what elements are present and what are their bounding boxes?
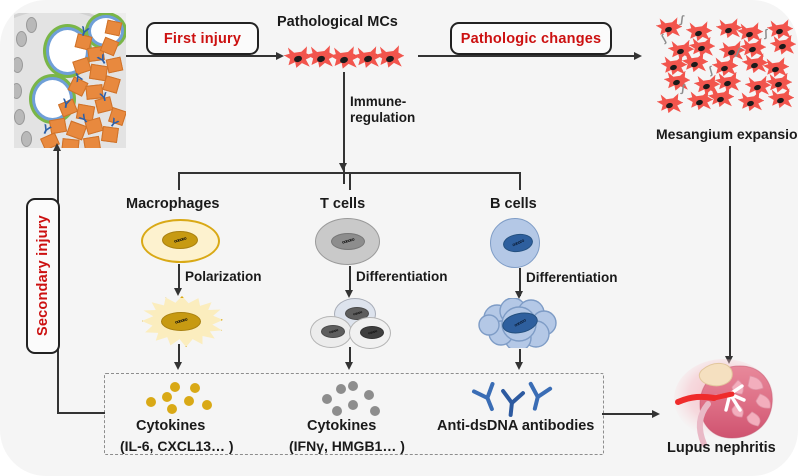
mc-cell-icon bbox=[738, 91, 764, 115]
differentiated-tcell-nucleus-icon: ∞∞∞ bbox=[360, 326, 384, 339]
mesangium-to-kidney-line bbox=[729, 146, 731, 358]
immune-regulation-label: Immune- regulation bbox=[350, 94, 415, 126]
dna-glyph: ∞∞∞ bbox=[352, 309, 362, 317]
antibodies-title: Anti-dsDNA antibodies bbox=[437, 418, 594, 434]
podocyte-icon bbox=[16, 31, 27, 47]
pathologic-changes-text: Pathologic changes bbox=[461, 31, 602, 47]
cytokine-dot bbox=[190, 383, 200, 393]
dna-glyph: ∞∞∞ bbox=[174, 316, 187, 326]
immune-regulation-arrowhead bbox=[339, 163, 347, 171]
products-to-kidney-arrowhead bbox=[652, 410, 660, 418]
macrophage-cytokine-dots bbox=[140, 382, 216, 412]
products-to-kidney-line bbox=[602, 413, 654, 415]
mc-cell-icon bbox=[376, 45, 404, 72]
dna-glyph: ∞∞∞ bbox=[173, 235, 186, 245]
dna-glyph: ∞∞∞ bbox=[341, 236, 354, 246]
pathological-mcs-label: Pathological MCs bbox=[277, 14, 398, 30]
bus-drop-bcells bbox=[519, 172, 521, 190]
bcell-differentiation-label: Differentiation bbox=[526, 270, 618, 285]
immune-regulation-line2: regulation bbox=[350, 110, 415, 126]
tcell-cytokines-title: Cytokines bbox=[307, 418, 376, 434]
tcell-differentiation-arrowhead bbox=[345, 290, 353, 298]
cytokine-dot bbox=[146, 397, 156, 407]
macrophage-to-cytokines-arrowhead bbox=[174, 362, 182, 370]
lupus-nephritis-label: Lupus nephritis bbox=[667, 440, 776, 456]
tcell-to-cytokines-arrowhead bbox=[345, 362, 353, 370]
secondary-injury-label: Secondary injury bbox=[26, 198, 60, 354]
tcell-cytokine-dots bbox=[318, 382, 394, 412]
cytokine-dot bbox=[322, 394, 332, 404]
pathologic-changes-arrow-line bbox=[418, 55, 636, 57]
immune-deposit-icon: Y bbox=[61, 96, 72, 110]
cell-process-icon: ʃ bbox=[764, 27, 768, 39]
first-injury-label: First injury bbox=[146, 22, 259, 55]
first-injury-arrow-line bbox=[126, 55, 278, 57]
bcells-label: B cells bbox=[490, 196, 537, 212]
cytokine-dot bbox=[167, 404, 177, 414]
tcells-label: T cells bbox=[320, 196, 365, 212]
pathologic-changes-arrowhead bbox=[634, 52, 642, 60]
mc-cell-icon bbox=[768, 88, 794, 112]
mesangial-cell-icon bbox=[105, 20, 123, 37]
podocyte-icon bbox=[21, 131, 32, 147]
antibody-icon bbox=[522, 381, 554, 411]
bcell-to-antibodies-arrowhead bbox=[515, 362, 523, 370]
dna-glyph: ∞∞∞ bbox=[367, 328, 377, 336]
feedback-arrowhead bbox=[53, 143, 61, 151]
macrophage-nucleus-icon: ∞∞∞ bbox=[162, 231, 198, 249]
immune-regulation-line1: Immune- bbox=[350, 94, 415, 110]
pathologic-changes-label: Pathologic changes bbox=[450, 22, 612, 55]
dna-glyph: ∞∞∞ bbox=[328, 327, 338, 335]
macrophages-label: Macrophages bbox=[126, 196, 219, 212]
cytokine-dot bbox=[364, 390, 374, 400]
cytokine-dot bbox=[332, 406, 342, 416]
first-injury-arrowhead bbox=[276, 52, 284, 60]
polarization-arrowhead bbox=[174, 288, 182, 296]
mc-cell-icon bbox=[657, 93, 683, 117]
mesangium-expansion-cluster: ʃʃʃʃʃʃ bbox=[660, 20, 792, 120]
cytokine-dot bbox=[348, 400, 358, 410]
cytokine-dot bbox=[184, 396, 194, 406]
pathological-mcs-cell-row bbox=[284, 44, 404, 74]
dna-glyph: ∞∞∞ bbox=[511, 237, 525, 248]
tcell-differentiation-label: Differentiation bbox=[356, 269, 448, 284]
secondary-injury-text: Secondary injury bbox=[35, 216, 51, 337]
mesangial-cell-icon bbox=[83, 136, 101, 148]
bus-drop-tcells bbox=[349, 172, 351, 190]
podocyte-icon bbox=[26, 17, 37, 33]
podocyte-icon bbox=[14, 109, 25, 125]
polarization-label: Polarization bbox=[185, 269, 262, 284]
tcell-nucleus-icon: ∞∞∞ bbox=[331, 233, 365, 250]
cell-process-icon: ʃ bbox=[679, 14, 684, 26]
macrophage-cytokines-title: Cytokines bbox=[136, 418, 205, 434]
differentiated-tcell-nucleus-icon: ∞∞∞ bbox=[321, 325, 345, 338]
activated-macrophage-nucleus-icon: ∞∞∞ bbox=[161, 312, 201, 331]
cytokine-dot bbox=[370, 406, 380, 416]
cytokine-dot bbox=[348, 381, 358, 391]
cytokine-dot bbox=[170, 382, 180, 392]
cytokine-dot bbox=[336, 384, 346, 394]
mc-cell-icon bbox=[770, 35, 796, 59]
bus-drop-macrophages bbox=[178, 172, 180, 190]
mc-cell-icon bbox=[708, 87, 734, 111]
kidney-image bbox=[668, 358, 786, 450]
mesangial-cell-icon bbox=[61, 138, 79, 148]
feedback-bottom-line bbox=[57, 412, 105, 414]
macrophage-cytokines-subtitle: (IL-6, CXCL13… ) bbox=[120, 438, 234, 454]
cytokine-dot bbox=[162, 392, 172, 402]
glomerulus-image: Y Y Y Y Y Y Y Y bbox=[14, 13, 126, 148]
first-injury-text: First injury bbox=[164, 31, 241, 47]
diagram-canvas: Y Y Y Y Y Y Y Y First injury Pathologica… bbox=[0, 0, 798, 476]
tcell-cytokines-subtitle: (IFNγ, HMGB1… ) bbox=[289, 438, 405, 454]
dna-glyph: ∞∞∞ bbox=[513, 317, 527, 329]
cytokine-dot bbox=[202, 400, 212, 410]
mesangium-expansion-label: Mesangium expansion bbox=[656, 126, 798, 142]
